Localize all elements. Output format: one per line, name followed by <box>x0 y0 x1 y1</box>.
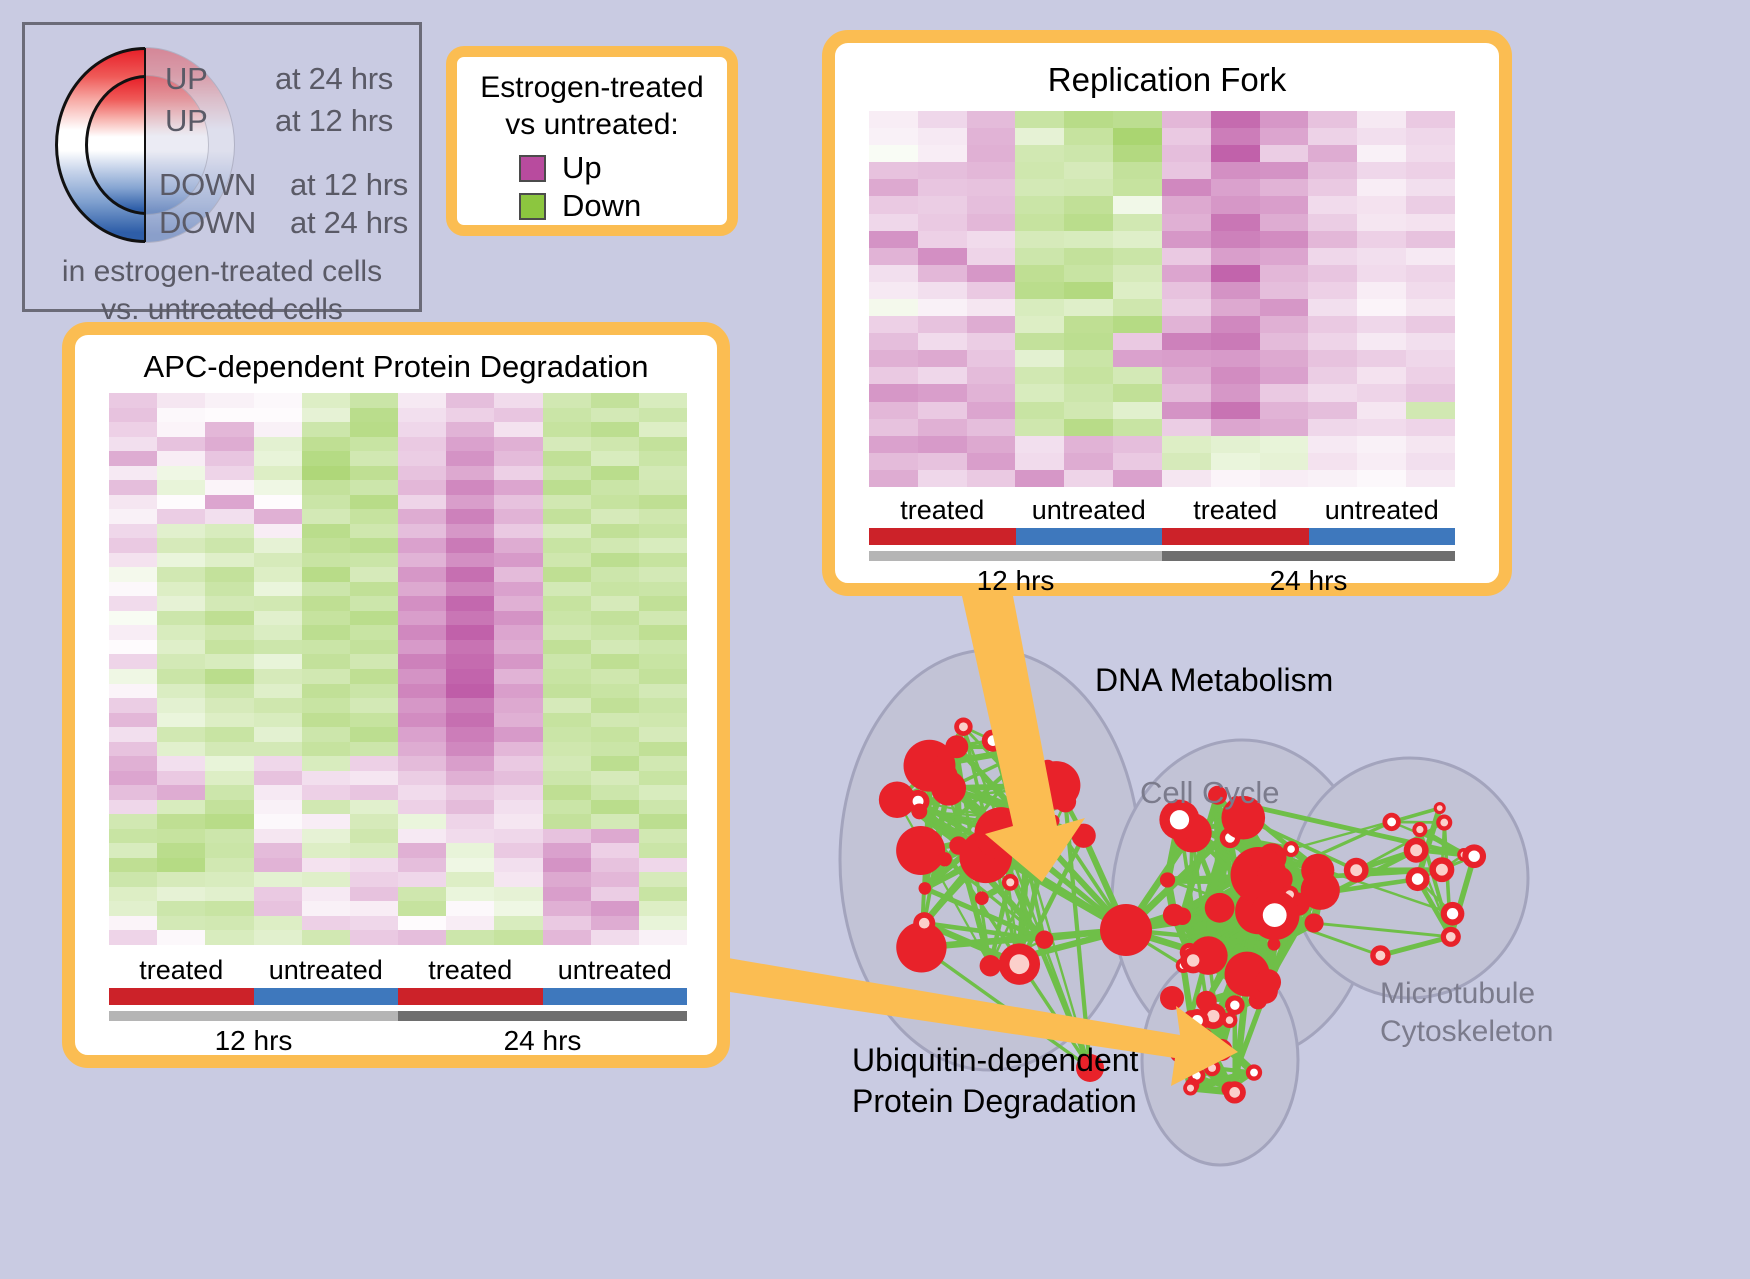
network-node[interactable] <box>1176 958 1191 973</box>
network-node[interactable] <box>924 760 958 794</box>
network-edge <box>1269 870 1318 880</box>
network-node[interactable] <box>1185 1078 1199 1092</box>
heatmap-cell <box>446 582 494 597</box>
heatmap-cell <box>350 785 398 800</box>
network-edge <box>1191 1016 1213 1018</box>
heatmap-cell <box>302 596 350 611</box>
network-edge <box>1205 1036 1222 1050</box>
heatmap-cell <box>967 333 1016 350</box>
network-edge <box>1265 870 1317 991</box>
network-node[interactable] <box>1184 1010 1199 1025</box>
network-edge <box>1182 1005 1235 1051</box>
network-node[interactable] <box>1205 893 1235 923</box>
network-edge <box>1392 822 1445 823</box>
network-node[interactable] <box>980 955 1001 976</box>
panel-replication-fork-title: Replication Fork <box>835 61 1499 99</box>
network-node[interactable] <box>1160 872 1175 887</box>
heatmap-cell <box>157 930 205 945</box>
network-node[interactable] <box>949 836 967 854</box>
network-node[interactable] <box>907 790 930 813</box>
network-node[interactable] <box>1305 869 1323 887</box>
heatmap-cell <box>1308 333 1357 350</box>
network-edge <box>1298 870 1318 904</box>
heatmap-cell <box>1015 316 1064 333</box>
network-node[interactable] <box>1412 822 1427 837</box>
network-node[interactable] <box>1256 868 1281 893</box>
network-edge <box>1192 833 1221 1050</box>
network-node[interactable] <box>896 922 946 972</box>
heatmap-cell <box>1357 162 1406 179</box>
network-node[interactable] <box>1222 1012 1238 1028</box>
network-node[interactable] <box>1246 1064 1262 1080</box>
network-node[interactable] <box>1221 1082 1236 1097</box>
network-edge <box>925 788 949 888</box>
network-node[interactable] <box>1344 858 1369 883</box>
heatmap-cell <box>639 408 687 423</box>
network-node[interactable] <box>926 742 942 758</box>
network-node[interactable] <box>1257 864 1276 883</box>
updown-legend-items: Up Down <box>457 149 727 225</box>
network-node[interactable] <box>904 740 956 792</box>
network-edge <box>1258 875 1265 991</box>
heatmap-cell <box>398 814 446 829</box>
heatmap-cell <box>639 771 687 786</box>
heatmap-cell <box>1260 453 1309 470</box>
network-node[interactable] <box>1406 867 1430 891</box>
network-node[interactable] <box>1301 871 1340 910</box>
network-node[interactable] <box>1200 1003 1226 1029</box>
heatmap-cell <box>205 437 253 452</box>
heatmap-cell <box>1357 214 1406 231</box>
heatmap-cell <box>494 480 542 495</box>
network-edge <box>1220 880 1269 907</box>
network-edge <box>941 777 1084 836</box>
network-node[interactable] <box>1100 904 1152 956</box>
heatmap-cell <box>350 625 398 640</box>
network-node[interactable] <box>1231 847 1287 903</box>
network-node[interactable] <box>1180 947 1206 973</box>
network-edge <box>990 940 1044 966</box>
condition-color-bar-replication-fork <box>869 528 1455 545</box>
network-edge <box>1392 808 1440 822</box>
heatmap-cell <box>398 495 446 510</box>
heatmap-cell <box>543 916 591 931</box>
heatmap-cell <box>591 698 639 713</box>
network-edge <box>1192 818 1243 833</box>
network-node[interactable] <box>1027 740 1041 754</box>
network-node[interactable] <box>1235 888 1281 934</box>
network-node[interactable] <box>1267 867 1292 892</box>
heatmap-cell <box>543 640 591 655</box>
heatmap-cell <box>494 698 542 713</box>
network-edge <box>1243 818 1280 880</box>
network-node-center <box>1461 851 1467 857</box>
heatmap-cell <box>1211 350 1260 367</box>
network-node-center <box>1447 908 1458 919</box>
heatmap-cell <box>869 179 918 196</box>
network-node[interactable] <box>1047 815 1059 827</box>
heatmap-cell <box>109 437 157 452</box>
network-edge <box>1044 930 1126 940</box>
heatmap-cell <box>494 451 542 466</box>
heatmap-cell <box>254 408 302 423</box>
network-node[interactable] <box>938 852 952 866</box>
heatmap-cell <box>543 437 591 452</box>
heatmap-cell <box>1162 350 1211 367</box>
heatmap-cell <box>1162 384 1211 401</box>
heatmap-cell <box>157 756 205 771</box>
network-node[interactable] <box>1434 802 1446 814</box>
heatmap-cell <box>591 582 639 597</box>
heatmap-cell <box>302 916 350 931</box>
heatmap-cell <box>543 596 591 611</box>
network-node-center <box>1006 878 1014 886</box>
network-node[interactable] <box>1253 979 1278 1004</box>
heatmap-cell <box>1406 470 1455 487</box>
network-edge <box>1193 944 1274 960</box>
network-edge <box>1243 818 1289 895</box>
heatmap-cell <box>591 422 639 437</box>
heatmap-cell <box>205 829 253 844</box>
heatmap-cell <box>591 814 639 829</box>
network-node[interactable] <box>1204 1060 1221 1077</box>
network-edge <box>1418 879 1453 914</box>
heatmap-cell <box>157 916 205 931</box>
network-edge <box>1182 916 1265 991</box>
heatmap-cell <box>302 756 350 771</box>
condition-color-segment <box>398 988 543 1005</box>
network-edge <box>1182 1018 1191 1051</box>
network-node[interactable] <box>1196 991 1217 1012</box>
network-node[interactable] <box>959 831 1012 884</box>
network-edge <box>957 747 1126 930</box>
legend-item-up: Up <box>519 149 727 187</box>
network-node-center <box>1009 954 1029 974</box>
network-node[interactable] <box>1172 813 1211 852</box>
heatmap-cell <box>350 684 398 699</box>
network-node[interactable] <box>1436 814 1452 830</box>
network-node[interactable] <box>879 781 916 818</box>
network-node[interactable] <box>1441 927 1461 947</box>
network-edge <box>1247 879 1280 974</box>
heatmap-cell <box>1260 179 1309 196</box>
network-node-center <box>1446 932 1456 942</box>
heatmap-cell <box>591 872 639 887</box>
network-node[interactable] <box>1225 995 1245 1015</box>
heatmap-cell <box>1357 282 1406 299</box>
network-node[interactable] <box>1250 890 1300 940</box>
network-node[interactable] <box>1210 1039 1232 1061</box>
colorwheel-caption: in estrogen-treated cells vs. untreated … <box>25 253 419 329</box>
heatmap-cell <box>918 299 967 316</box>
heatmap-cell <box>1260 402 1309 419</box>
network-node[interactable] <box>1032 761 1080 809</box>
network-node[interactable] <box>1287 892 1310 915</box>
network-node-center <box>1187 1014 1194 1021</box>
network-edge <box>1168 820 1180 880</box>
network-node[interactable] <box>931 771 966 806</box>
network-node[interactable] <box>1283 841 1299 857</box>
heatmap-cell <box>1015 179 1064 196</box>
heatmap-cell <box>869 214 918 231</box>
condition-color-bar-apc <box>109 988 687 1005</box>
heatmap-cell <box>1211 419 1260 436</box>
network-node[interactable] <box>913 912 935 934</box>
network-edge <box>1220 874 1267 908</box>
heatmap-cell <box>639 843 687 858</box>
network-node[interactable] <box>975 891 989 905</box>
heatmap-cell <box>1357 453 1406 470</box>
network-edge <box>897 800 986 857</box>
heatmap-cell <box>494 393 542 408</box>
heatmap-cell <box>302 451 350 466</box>
colorwheel-label-up-12: UP <box>165 103 207 139</box>
network-node[interactable] <box>1183 1081 1198 1096</box>
network-node[interactable] <box>1441 902 1465 926</box>
network-node[interactable] <box>1163 904 1185 926</box>
network-edge <box>1174 890 1320 915</box>
heatmap-cell <box>350 495 398 510</box>
network-node[interactable] <box>984 822 1000 838</box>
heatmap-cell <box>254 553 302 568</box>
network-edge <box>1193 880 1268 960</box>
heatmap-cell <box>157 582 205 597</box>
heatmap-cell <box>1064 179 1113 196</box>
network-node[interactable] <box>1189 936 1228 975</box>
network-edge <box>925 857 986 889</box>
heatmap-cell <box>918 265 967 282</box>
network-edge <box>1183 874 1267 966</box>
network-edge <box>963 727 1053 821</box>
heatmap-cell <box>1357 179 1406 196</box>
heatmap-cell <box>205 742 253 757</box>
network-node[interactable] <box>999 943 1040 984</box>
heatmap-cell <box>1015 367 1064 384</box>
network-node[interactable] <box>1305 913 1324 932</box>
heatmap-cell <box>967 367 1016 384</box>
network-edge <box>1314 923 1451 937</box>
heatmap-cell <box>350 800 398 815</box>
heatmap-cell <box>543 901 591 916</box>
heatmap-cell <box>543 524 591 539</box>
heatmap-cell <box>446 742 494 757</box>
heatmap-cell <box>398 698 446 713</box>
heatmap-cell <box>1113 111 1162 128</box>
network-edge <box>1272 858 1290 895</box>
network-node-center <box>1208 1064 1216 1072</box>
heatmap-cell <box>1406 145 1455 162</box>
network-node[interactable] <box>1039 760 1057 778</box>
heatmap-cell <box>157 422 205 437</box>
network-node[interactable] <box>919 882 932 895</box>
heatmap-cell <box>1406 436 1455 453</box>
heatmap-cell <box>494 742 542 757</box>
heatmap-cell <box>494 654 542 669</box>
network-edge <box>1220 908 1268 982</box>
heatmap-cell <box>639 640 687 655</box>
heatmap-cell <box>109 611 157 626</box>
network-node[interactable] <box>1255 969 1281 995</box>
network-node[interactable] <box>1370 945 1390 965</box>
network-node[interactable] <box>1258 843 1287 872</box>
heatmap-cell <box>109 582 157 597</box>
network-edge <box>924 923 1044 939</box>
heatmap-cell <box>446 408 494 423</box>
heatmap-cell <box>205 596 253 611</box>
network-node[interactable] <box>1169 1038 1194 1063</box>
heatmap-cell <box>398 524 446 539</box>
network-node[interactable] <box>1267 938 1280 951</box>
heatmap-cell <box>918 419 967 436</box>
heatmap-cell <box>302 742 350 757</box>
network-node[interactable] <box>1429 857 1454 882</box>
heatmap-cell <box>205 524 253 539</box>
heatmap-cell <box>494 625 542 640</box>
heatmap-cell <box>543 611 591 626</box>
network-node[interactable] <box>1197 1028 1213 1044</box>
heatmap-cell <box>205 567 253 582</box>
heatmap-cell <box>1357 384 1406 401</box>
heatmap-cell <box>446 858 494 873</box>
network-node[interactable] <box>911 804 927 820</box>
heatmap-cell <box>254 771 302 786</box>
network-edge <box>1380 937 1450 956</box>
heatmap-cell <box>446 480 494 495</box>
network-node[interactable] <box>1002 874 1019 891</box>
network-edge <box>1020 830 1044 940</box>
heatmap-cell <box>967 316 1016 333</box>
network-node-center <box>1226 1086 1233 1093</box>
network-edge <box>1201 880 1268 1054</box>
network-node[interactable] <box>1012 822 1028 838</box>
heatmap-cell <box>591 829 639 844</box>
heatmap-cell <box>1064 145 1113 162</box>
heatmap-cell <box>446 509 494 524</box>
network-node[interactable] <box>1301 854 1334 887</box>
network-node[interactable] <box>1035 931 1053 949</box>
heatmap-cell <box>639 872 687 887</box>
network-edge <box>1201 1005 1235 1055</box>
heatmap-cell <box>398 654 446 669</box>
heatmap-cell <box>591 553 639 568</box>
network-node[interactable] <box>1180 943 1199 962</box>
network-node[interactable] <box>1249 991 1267 1009</box>
network-node[interactable] <box>1174 907 1192 925</box>
network-edge <box>1416 830 1420 851</box>
network-edge <box>1192 1001 1206 1085</box>
network-node[interactable] <box>974 808 1026 860</box>
heatmap-cell <box>254 814 302 829</box>
heatmap-cell <box>205 858 253 873</box>
heatmap-cell <box>639 437 687 452</box>
heatmap-cell <box>205 916 253 931</box>
network-node[interactable] <box>1404 838 1429 863</box>
network-node[interactable] <box>1382 813 1400 831</box>
heatmap-cell <box>157 814 205 829</box>
heatmap-cell <box>1211 162 1260 179</box>
network-edge <box>1206 1000 1258 1001</box>
heatmap-cell <box>1015 282 1064 299</box>
heatmap-cell <box>109 727 157 742</box>
network-node[interactable] <box>954 718 972 736</box>
network-node[interactable] <box>1193 1047 1209 1063</box>
heatmap-cell <box>254 611 302 626</box>
heatmap-cell <box>543 727 591 742</box>
network-node[interactable] <box>982 729 1004 751</box>
network-node[interactable] <box>1160 986 1184 1010</box>
network-node[interactable] <box>1188 1067 1206 1085</box>
heatmap-cell <box>205 553 253 568</box>
heatmap-cell <box>446 930 494 945</box>
heatmap-cell <box>591 393 639 408</box>
network-edge <box>1174 915 1189 952</box>
network-node[interactable] <box>896 826 945 875</box>
network-edge <box>1192 833 1258 1000</box>
heatmap-cell <box>1162 231 1211 248</box>
network-node[interactable] <box>1225 952 1270 997</box>
condition-label: untreated <box>254 955 399 986</box>
heatmap-cell <box>302 727 350 742</box>
heatmap-cell <box>1357 436 1406 453</box>
network-node[interactable] <box>1055 791 1076 812</box>
network-node[interactable] <box>1462 844 1486 868</box>
network-edge <box>1258 870 1317 875</box>
network-edge <box>1212 858 1272 1068</box>
heatmap-cell <box>302 437 350 452</box>
network-node[interactable] <box>1281 886 1299 904</box>
timepoint-label: 12 hrs <box>109 1025 398 1057</box>
heatmap-cell <box>918 453 967 470</box>
heatmap-cell <box>543 887 591 902</box>
network-node[interactable] <box>1224 1081 1246 1103</box>
network-edge <box>1182 878 1314 916</box>
heatmap-cell <box>918 316 967 333</box>
heatmap-cell <box>446 829 494 844</box>
network-edge <box>1190 1075 1196 1088</box>
network-edge <box>1168 880 1381 956</box>
network-node[interactable] <box>945 735 968 758</box>
network-edge <box>1274 890 1320 944</box>
heatmap-cell <box>1406 367 1455 384</box>
network-edge <box>1182 916 1258 1000</box>
heatmap-cell <box>398 567 446 582</box>
heatmap-cell <box>109 451 157 466</box>
heatmap-cell <box>1211 111 1260 128</box>
heatmap-cell <box>1211 402 1260 419</box>
network-edge <box>1193 908 1219 961</box>
heatmap-cell <box>1308 265 1357 282</box>
heatmap-cell <box>1162 265 1211 282</box>
heatmap-cell <box>494 538 542 553</box>
heatmap-cell <box>350 742 398 757</box>
network-node[interactable] <box>1186 1009 1209 1032</box>
network-node[interactable] <box>1072 824 1096 848</box>
heatmap-cell <box>302 669 350 684</box>
heatmap-cell <box>350 509 398 524</box>
network-node[interactable] <box>978 807 1025 854</box>
network-edge <box>1190 1021 1197 1088</box>
network-node-center <box>1437 805 1443 811</box>
heatmap-cell <box>1015 436 1064 453</box>
network-node[interactable] <box>1457 848 1470 861</box>
network-edge <box>1247 895 1290 975</box>
network-node[interactable] <box>1220 827 1241 848</box>
heatmap-cell <box>350 916 398 931</box>
network-edge <box>918 727 963 801</box>
heatmap-cell <box>1260 231 1309 248</box>
network-edge <box>957 747 991 966</box>
network-edge <box>1168 880 1175 915</box>
